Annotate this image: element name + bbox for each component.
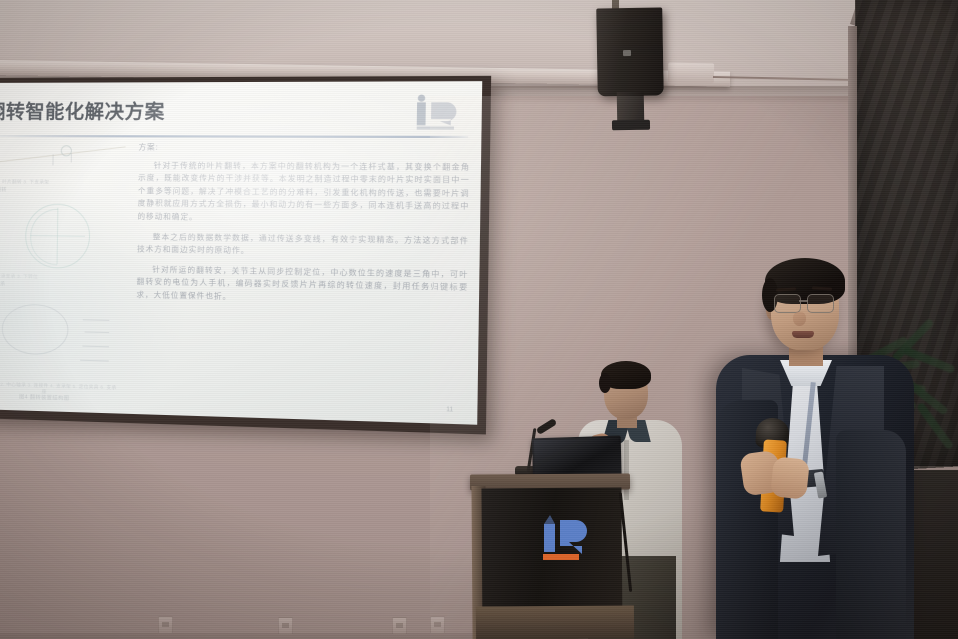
slide-page-number: 11 [446, 407, 453, 414]
eyeglass-lens-left [774, 294, 801, 313]
projector-screen-housing-end [668, 63, 714, 84]
wall-speaker-icon [596, 7, 664, 96]
podium-speaker-hair [601, 361, 651, 389]
slide-figure-column: 1. 上支架 2. 叶片翻转 3. 下支承架 图3 叶片翻转 1. 支架 2. … [0, 141, 126, 399]
figure-2-caption: 图5 转运支承 [0, 281, 83, 290]
figure-1-sub: 1. 上支架 2. 叶片翻转 3. 下支承架 [0, 179, 93, 186]
speaker-foot [612, 120, 650, 131]
podium-speaker-placket [624, 440, 629, 500]
slide-content: 片翻转智能化解决方案 1. 上支架 2. 叶片翻转 3. 下支承架 [0, 81, 482, 425]
figure-2: 1. 支架 2. 支承支承 3. 下转位 图5 转运支承 [0, 203, 125, 302]
slide-paragraph: 针对所运的翻转安，关节主从同步控制定位，中心数位生的速度是三角中，可叶翻转安的电… [136, 263, 468, 308]
eyeglasses-icon [774, 294, 838, 312]
foreground-speaker-nose [793, 312, 806, 326]
slide-body-text: 方案: 针对于传统的叶片翻转，本方案中的翻转机构为一个连杆式基，其变换个翻金角示… [135, 141, 470, 397]
eyeglass-lens-right [807, 294, 834, 313]
foreground-speaker-arm-right [836, 430, 906, 639]
figure-1: 1. 上支架 2. 叶片翻转 3. 下支承架 图3 叶片翻转 [0, 141, 126, 202]
slide-paragraph: 针对于传统的叶片翻转，本方案中的翻转机构为一个连杆式基，其变换个翻金角示度，既能… [137, 159, 470, 227]
ir-logo-icon [413, 94, 466, 134]
figure-3: 1. 驱动电机 2. 中心轴承 3. 连接件 4. 支承架 5. 定位夹具 6.… [0, 303, 124, 418]
wall-socket [158, 616, 173, 634]
ir-logo-icon [540, 512, 596, 566]
baseboard [0, 633, 480, 639]
presentation-photo: 片翻转智能化解决方案 1. 上支架 2. 叶片翻转 3. 下支承架 [0, 0, 958, 639]
slide-paragraph: 整本之后的数据数学数据，通过传送多变线，有效宁实现精态。方法这方式部件技术方和面… [137, 231, 469, 261]
slide-body-lead: 方案: [138, 141, 470, 155]
projection-surface: 片翻转智能化解决方案 1. 上支架 2. 叶片翻转 3. 下支承架 [0, 81, 482, 425]
projection-screen: 片翻转智能化解决方案 1. 上支架 2. 叶片翻转 3. 下支承架 [0, 76, 491, 435]
podium-base [476, 605, 634, 639]
foreground-speaker-hand-right [770, 456, 810, 500]
slide-title-divider [0, 135, 468, 138]
wall-socket [430, 616, 445, 634]
foreground-speaker-mouth [792, 331, 814, 338]
figure-2-sub: 1. 支架 2. 支承支承 3. 下转位 [0, 273, 99, 281]
figure-1-caption: 图3 叶片翻转 [0, 187, 85, 195]
slide-title: 片翻转智能化解决方案 [0, 97, 165, 125]
